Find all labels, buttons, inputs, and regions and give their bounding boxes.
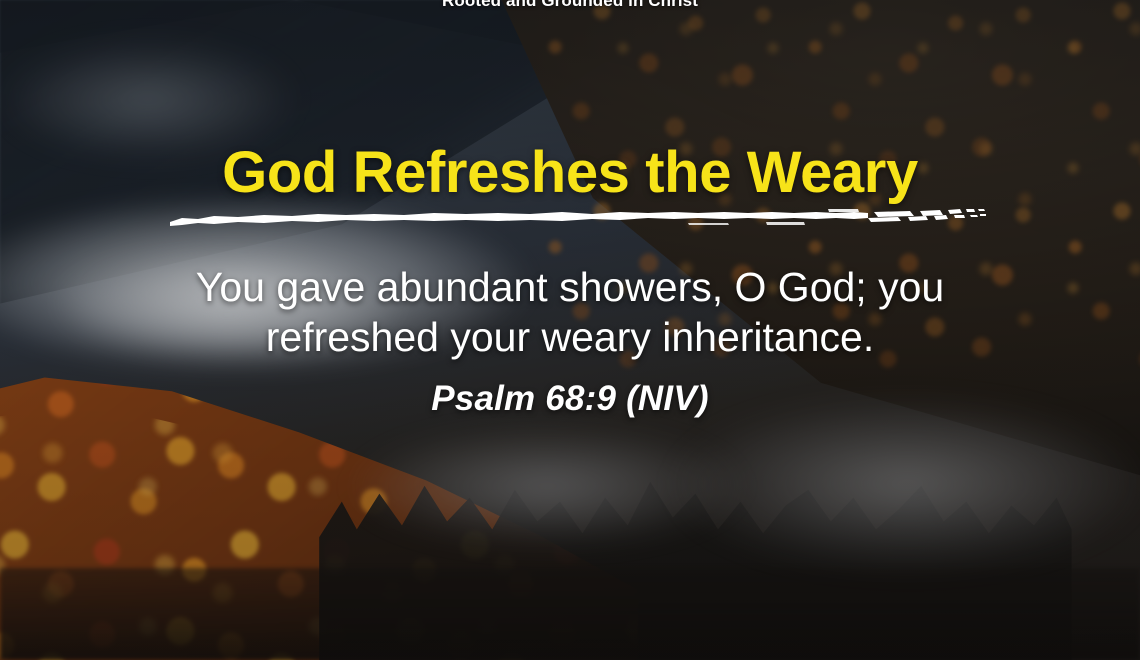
verse-line-2: refreshed your weary inheritance. [0, 312, 1140, 362]
brush-stroke-divider [168, 206, 988, 232]
series-kicker: Rooted and Grounded in Christ [0, 0, 1140, 11]
slide-content: Rooted and Grounded in Christ God Refres… [0, 0, 1140, 660]
scripture-citation: Psalm 68:9 (NIV) [0, 379, 1140, 419]
verse-line-1: You gave abundant showers, O God; you [0, 262, 1140, 312]
verse-text: You gave abundant showers, O God; you re… [0, 262, 1140, 362]
page-title: God Refreshes the Weary [0, 143, 1140, 204]
scripture-slide: Rooted and Grounded in Christ God Refres… [0, 0, 1140, 660]
brush-stroke-icon [168, 206, 988, 232]
